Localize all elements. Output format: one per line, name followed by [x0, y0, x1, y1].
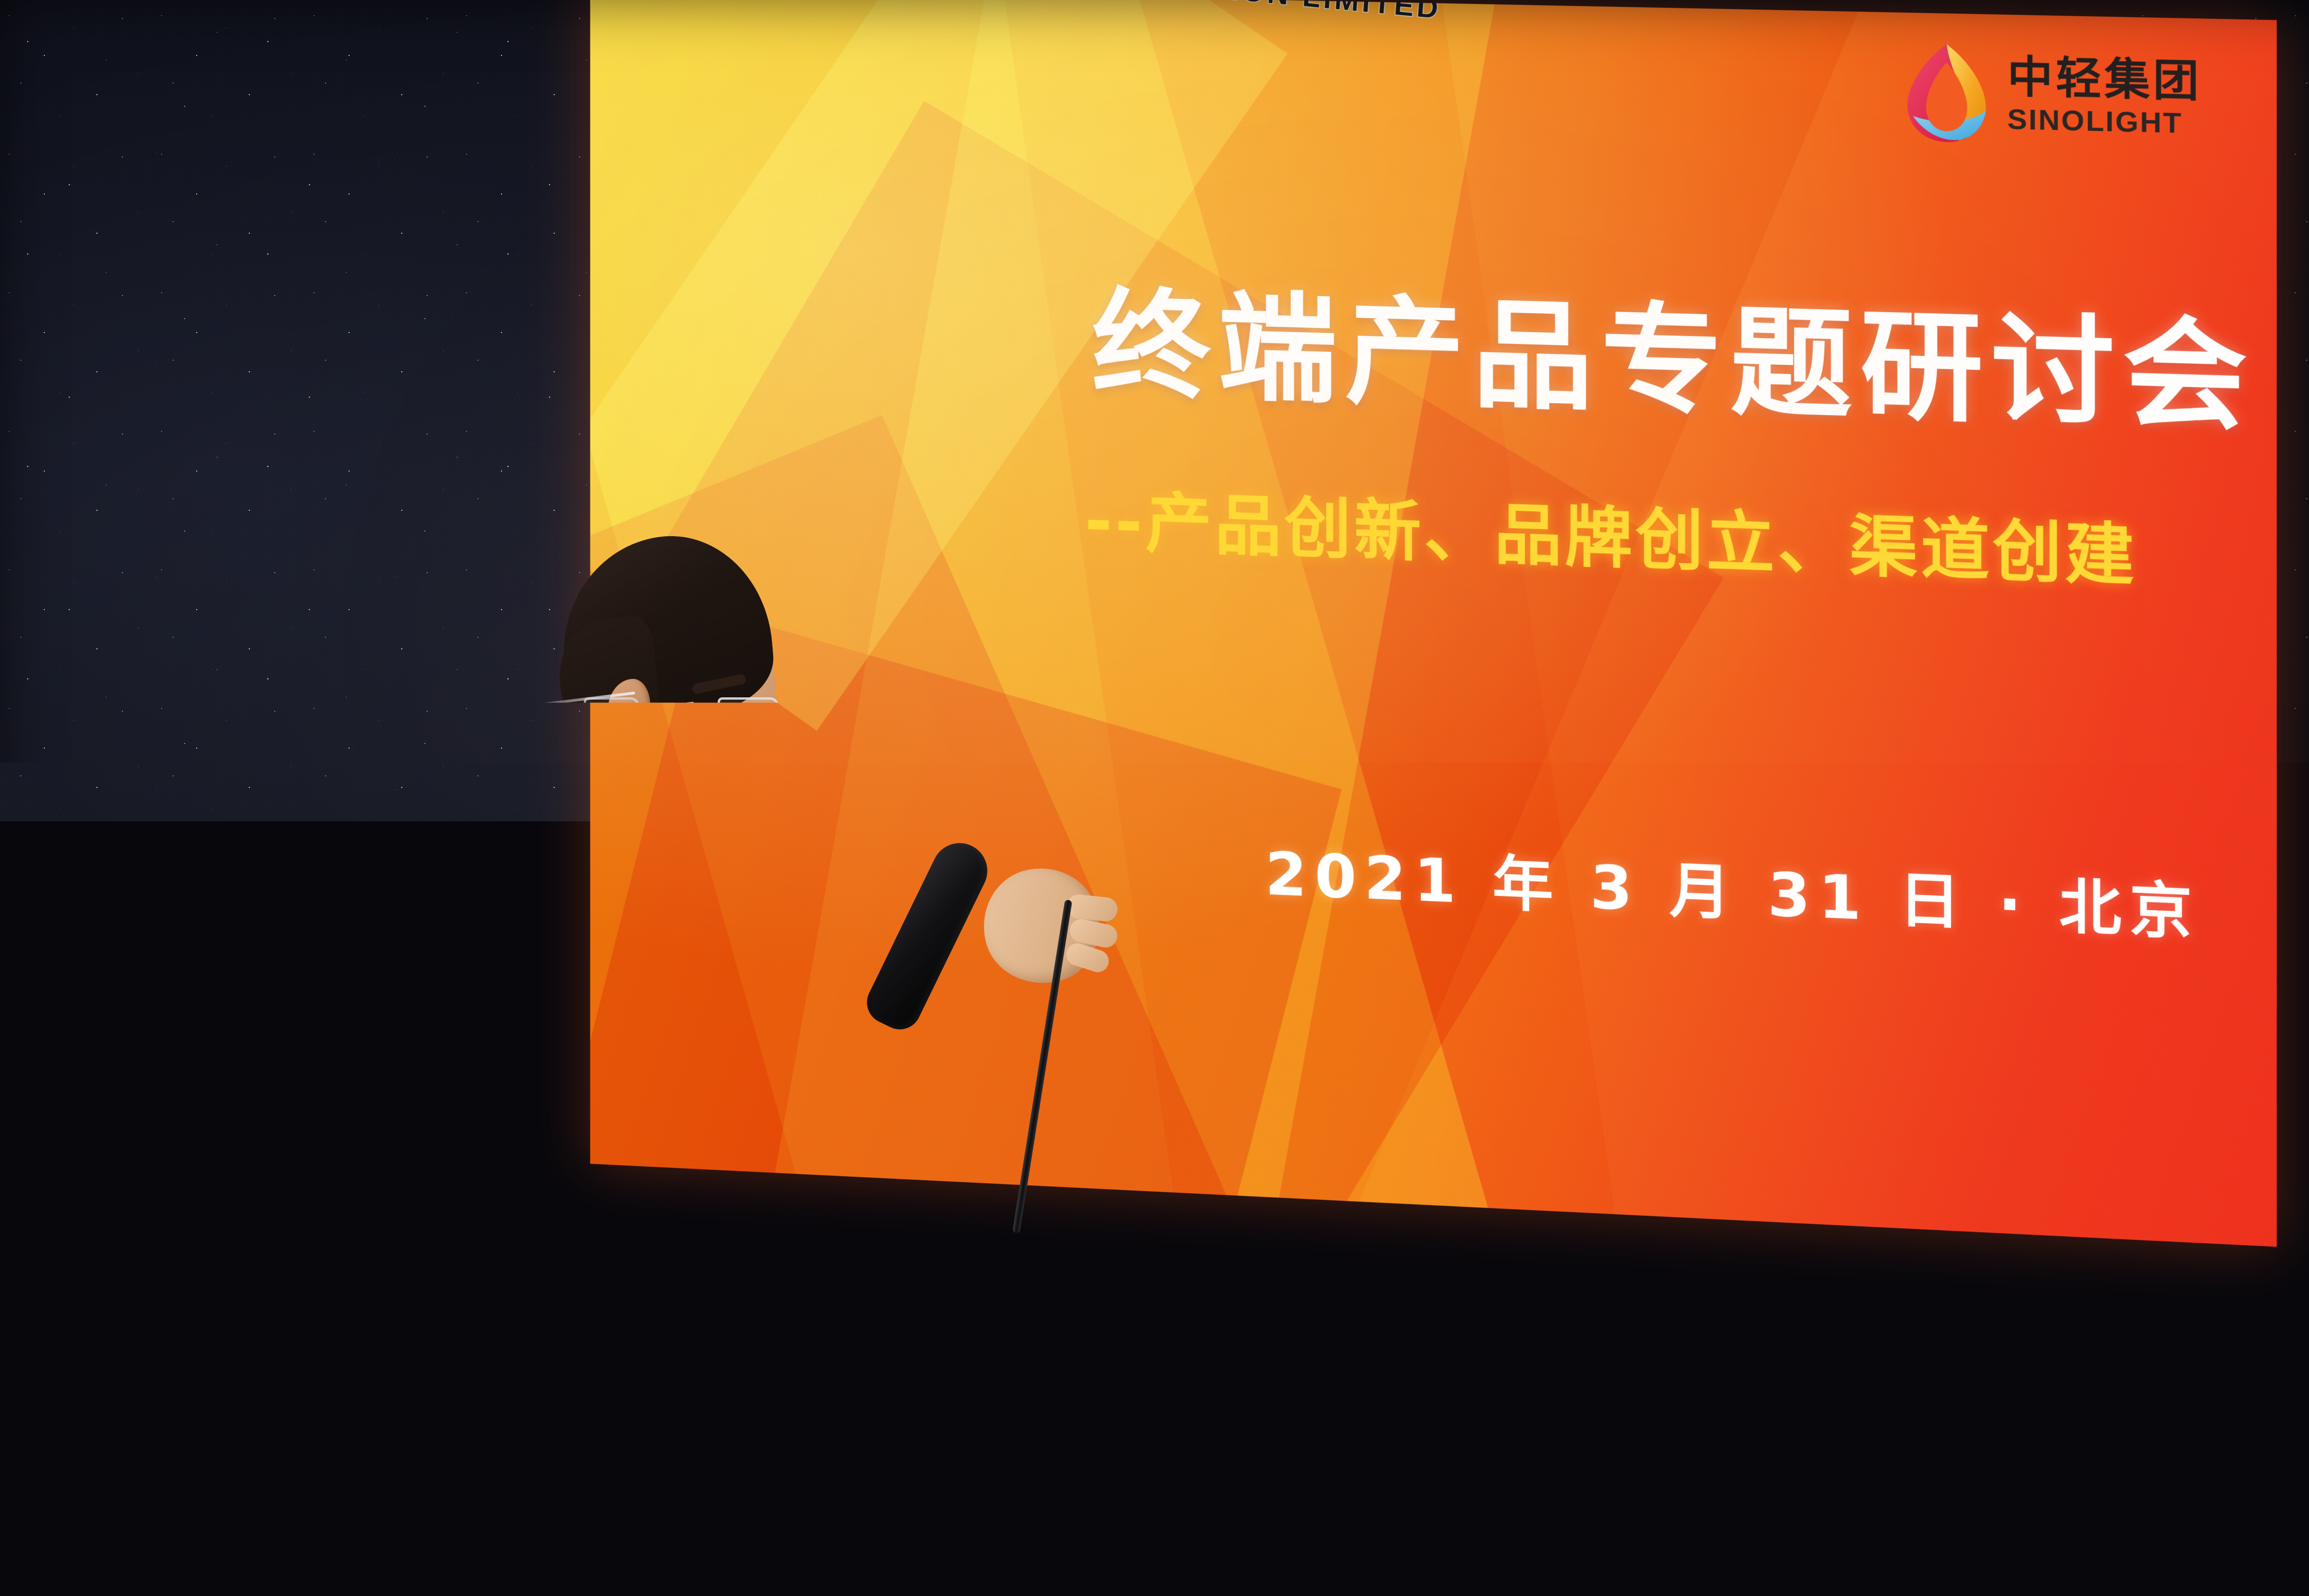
slide-subtitle: --产品创新、品牌创立、渠道创建 — [1085, 468, 2137, 598]
corporation-limited-text: ORPORATION LIMITED — [1065, 0, 1443, 26]
sinolight-brand-logo: 中轻集团 SINOLIGHT — [1900, 37, 2202, 154]
glasses-bridge — [673, 702, 694, 707]
slide-title: 终端产品专题研讨会 — [1092, 249, 2255, 453]
glasses-lens-right — [718, 697, 779, 731]
eyeglasses-icon — [623, 691, 776, 733]
photo-scene: ORPORATION LIMITED — [0, 0, 2309, 1596]
glasses-lens-left — [584, 697, 639, 731]
sinolight-teardrop-ring-icon — [1900, 37, 1994, 149]
brand-name-cn: 中轻集团 — [2007, 55, 2202, 104]
brand-name-en: SINOLIGHT — [2007, 105, 2202, 138]
brand-text-block: 中轻集团 SINOLIGHT — [2007, 55, 2202, 138]
slide-date-location: 2021 年 3 月 31 日 · 北京 — [1265, 826, 2200, 951]
